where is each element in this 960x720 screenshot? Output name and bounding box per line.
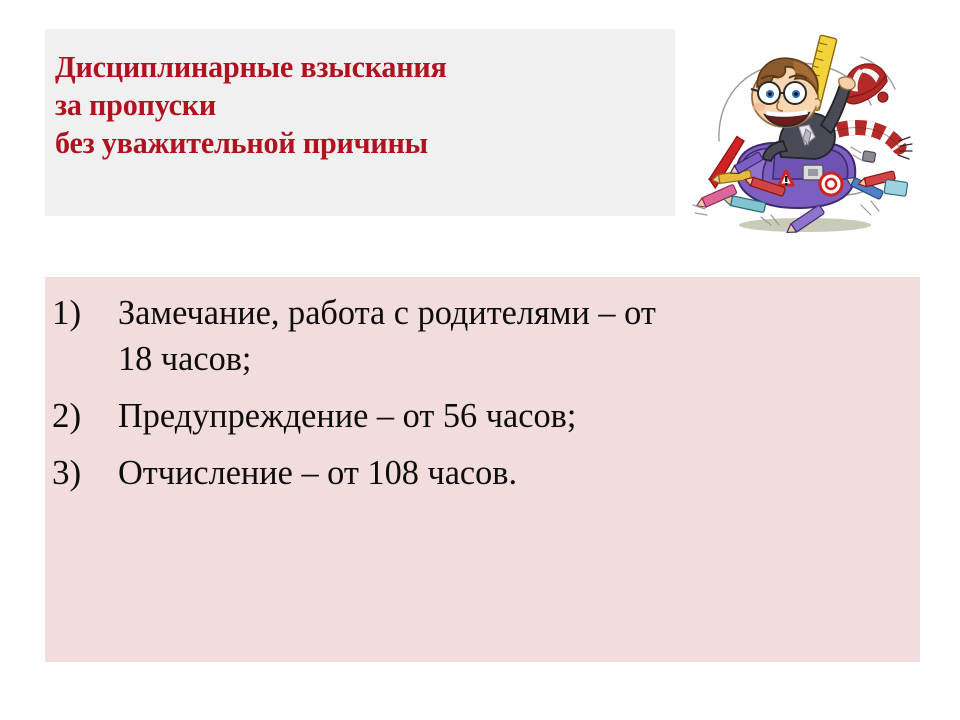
list-item-marker: 2): [52, 393, 118, 439]
list-item-line: Отчисление – от 108 часов.: [118, 450, 843, 496]
title-line-3: без уважительной причины: [55, 124, 656, 162]
list-item-line: 18 часов;: [118, 336, 843, 382]
disciplinary-measures-list: 1) Замечание, работа с родителями – от 1…: [52, 290, 922, 496]
list-item: 2) Предупреждение – от 56 часов;: [52, 393, 922, 439]
title-line-1: Дисциплинарные взыскания: [55, 48, 656, 86]
list-item: 3) Отчисление – от 108 часов.: [52, 450, 922, 496]
red-circle-badge-icon: [820, 173, 842, 195]
list-item-marker: 3): [52, 450, 118, 496]
list-item-text: Предупреждение – от 56 часов;: [118, 393, 843, 439]
slide-title: Дисциплинарные взыскания за пропуски без…: [55, 48, 675, 162]
list-item-text: Отчисление – от 108 часов.: [118, 450, 843, 496]
list-item: 1) Замечание, работа с родителями – от 1…: [52, 290, 922, 382]
list-item-line: Замечание, работа с родителями – от: [118, 290, 843, 336]
title-line-2: за пропуски: [55, 86, 656, 124]
list-item-marker: 1): [52, 290, 118, 336]
list-item-text: Замечание, работа с родителями – от 18 ч…: [118, 290, 843, 382]
list-item-line: Предупреждение – от 56 часов;: [118, 393, 843, 439]
slide-canvas: Дисциплинарные взыскания за пропуски без…: [0, 0, 960, 720]
schoolboy-riding-backpack-illustration: [675, 29, 920, 245]
